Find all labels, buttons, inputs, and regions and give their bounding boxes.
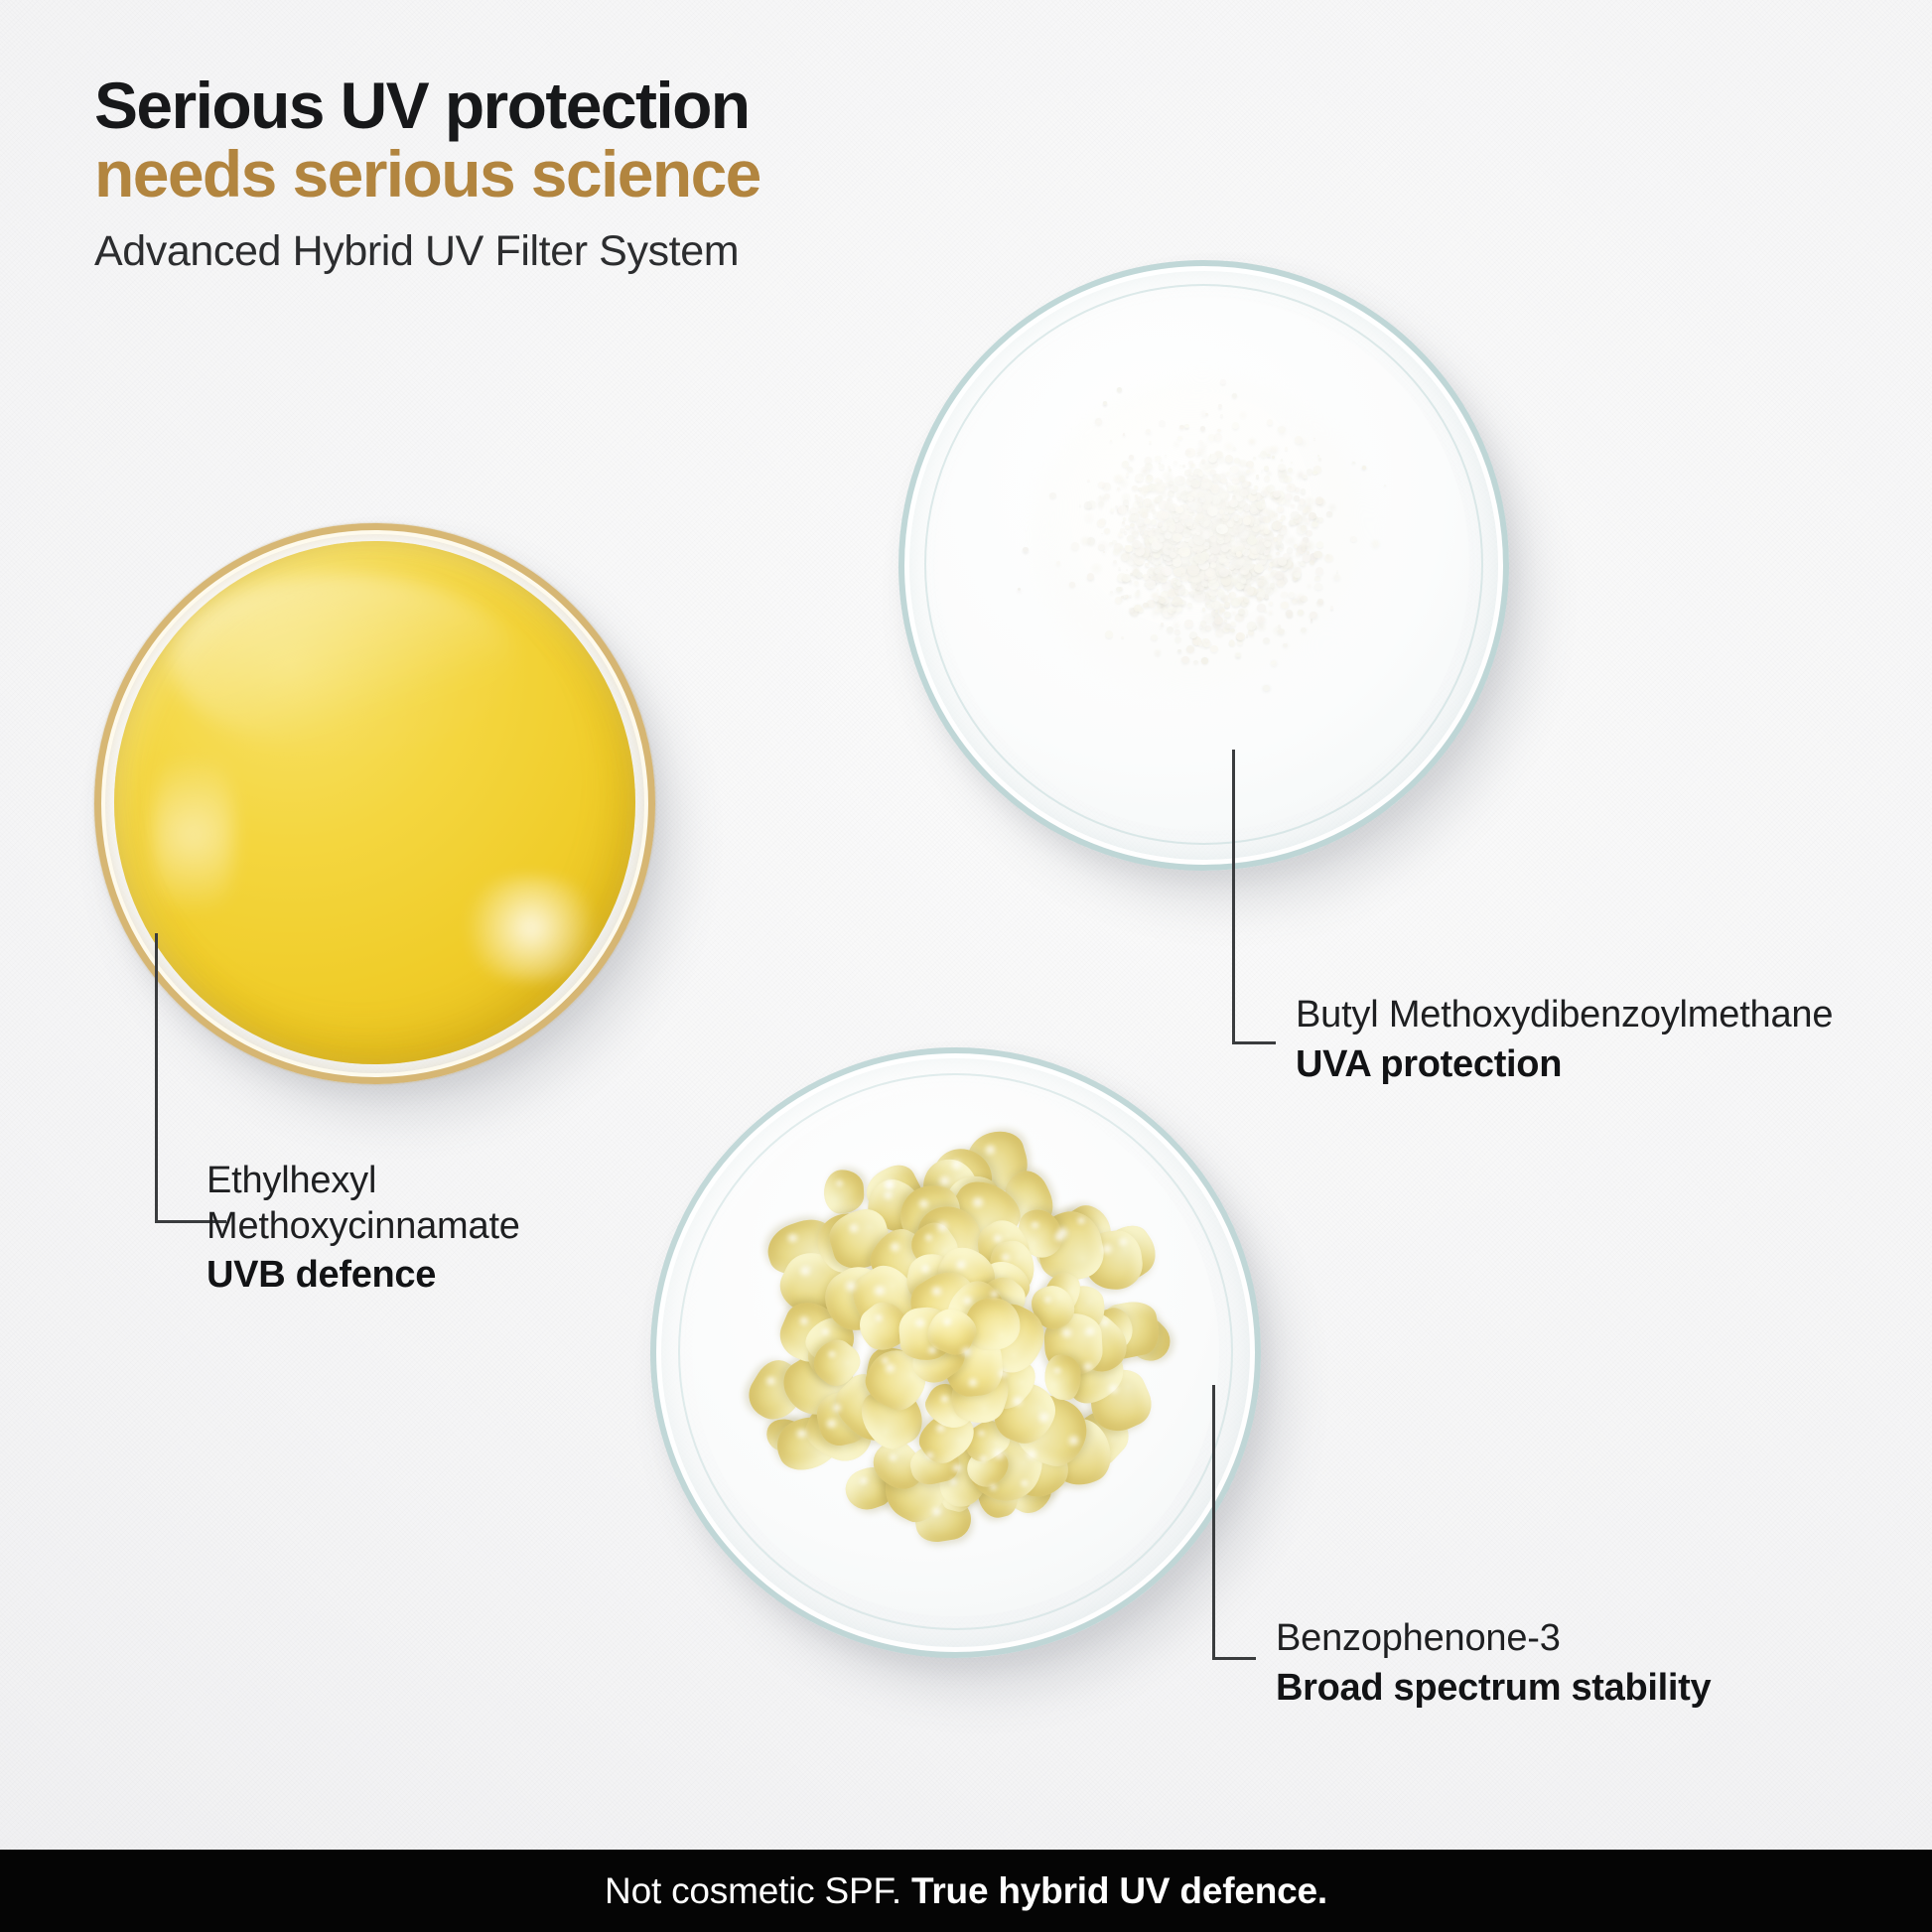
granule-specular bbox=[978, 1455, 989, 1462]
granule-specular bbox=[826, 1350, 838, 1359]
title-line-1: Serious UV protection bbox=[94, 69, 750, 142]
granule-specular bbox=[1058, 1327, 1074, 1339]
granule-specular bbox=[1099, 1243, 1114, 1255]
footer-text-plain: Not cosmetic SPF. bbox=[605, 1870, 911, 1911]
petri-dish-benzophenone-3 bbox=[650, 1047, 1261, 1658]
granule-specular bbox=[934, 1220, 951, 1233]
granule-specular bbox=[784, 1233, 801, 1243]
leader-vertical bbox=[155, 933, 158, 1223]
granule-specular bbox=[871, 1285, 890, 1297]
callout-butyl-methoxydibenzoylmethane: Butyl Methoxydibenzoylmethane UVA protec… bbox=[1296, 993, 1931, 1087]
granule-specular bbox=[797, 1315, 811, 1327]
ingredient-name: Ethylhexyl Methoxycinnamate bbox=[207, 1159, 762, 1249]
ingredient-role: UVB defence bbox=[207, 1253, 762, 1299]
footer-text-bold: True hybrid UV defence. bbox=[911, 1870, 1327, 1911]
granule-specular bbox=[793, 1429, 810, 1439]
powder-grain bbox=[1384, 484, 1386, 486]
callout-benzophenone-3: Benzophenone-3 Broad spectrum stability bbox=[1276, 1616, 1911, 1711]
granule-specular bbox=[797, 1265, 813, 1277]
granule-specular bbox=[923, 1233, 934, 1242]
granule-specular bbox=[823, 1419, 840, 1429]
granule-specular bbox=[1024, 1449, 1039, 1460]
granule-specular bbox=[883, 1362, 897, 1374]
granule-specular bbox=[858, 1476, 870, 1484]
granule-specular bbox=[882, 1190, 895, 1200]
granule-specular bbox=[847, 1222, 862, 1234]
granule-specular bbox=[988, 1290, 1002, 1299]
powder-grain bbox=[1103, 401, 1107, 404]
granule-specular bbox=[916, 1198, 932, 1210]
granule-specular bbox=[923, 1451, 936, 1459]
yellow-granule-particles bbox=[650, 1047, 1261, 1658]
leader-vertical bbox=[1232, 750, 1235, 1044]
powder-grain bbox=[1018, 588, 1021, 591]
granule-pebble bbox=[1044, 1354, 1081, 1400]
oil-highlight-left bbox=[151, 730, 234, 939]
granule-specular bbox=[843, 1280, 859, 1293]
granule-specular bbox=[969, 1196, 987, 1208]
powder-grain bbox=[1023, 547, 1029, 553]
page-title: Serious UV protection needs serious scie… bbox=[94, 71, 1186, 207]
granule-specular bbox=[1082, 1326, 1099, 1336]
granule-specular bbox=[1051, 1367, 1063, 1374]
powder-haze bbox=[1034, 378, 1375, 699]
granule-specular bbox=[990, 1448, 1007, 1461]
leader-horizontal bbox=[1212, 1657, 1256, 1660]
granule-specular bbox=[949, 1159, 964, 1171]
dish-glass bbox=[898, 260, 1509, 871]
granule-specular bbox=[1019, 1479, 1031, 1487]
petri-dish-butyl-methoxydibenzoylmethane bbox=[898, 260, 1509, 871]
footer-bar: Not cosmetic SPF. True hybrid UV defence… bbox=[0, 1850, 1932, 1932]
powder-grain bbox=[1362, 466, 1367, 470]
granule-specular bbox=[933, 1424, 948, 1433]
leader-vertical bbox=[1212, 1385, 1215, 1660]
granule-specular bbox=[996, 1369, 1010, 1378]
granule-specular bbox=[936, 1175, 953, 1186]
granule-specular bbox=[929, 1507, 944, 1516]
callout-ethylhexyl-methoxycinnamate: Ethylhexyl Methoxycinnamate UVB defence bbox=[207, 1159, 762, 1299]
headline-block: Serious UV protection needs serious scie… bbox=[94, 71, 1186, 276]
oil-highlight-top bbox=[172, 573, 516, 751]
ingredient-role: UVA protection bbox=[1296, 1042, 1931, 1088]
powder-grain bbox=[1117, 387, 1123, 392]
granule-specular bbox=[1029, 1221, 1041, 1229]
granule-specular bbox=[991, 1234, 1005, 1244]
oil-highlight-right bbox=[453, 876, 610, 980]
granule-specular bbox=[1106, 1383, 1121, 1395]
granule-specular bbox=[1010, 1396, 1026, 1408]
leader-horizontal bbox=[1232, 1041, 1276, 1044]
ingredient-name: Butyl Methoxydibenzoylmethane bbox=[1296, 993, 1931, 1038]
ingredient-name: Benzophenone-3 bbox=[1276, 1616, 1911, 1662]
granule-specular bbox=[763, 1376, 778, 1386]
infographic-canvas: Serious UV protection needs serious scie… bbox=[0, 0, 1932, 1932]
granule-pebble bbox=[823, 1169, 865, 1214]
ingredient-role: Broad spectrum stability bbox=[1276, 1666, 1911, 1712]
footer-text: Not cosmetic SPF. True hybrid UV defence… bbox=[605, 1870, 1327, 1912]
granule-specular bbox=[953, 1260, 968, 1270]
granule-specular bbox=[819, 1327, 832, 1335]
white-powder-particles bbox=[898, 260, 1509, 871]
dish-glass bbox=[650, 1047, 1261, 1658]
granule-specular bbox=[949, 1463, 965, 1472]
title-line-2: needs serious science bbox=[94, 140, 1186, 208]
granule-specular bbox=[883, 1178, 897, 1189]
